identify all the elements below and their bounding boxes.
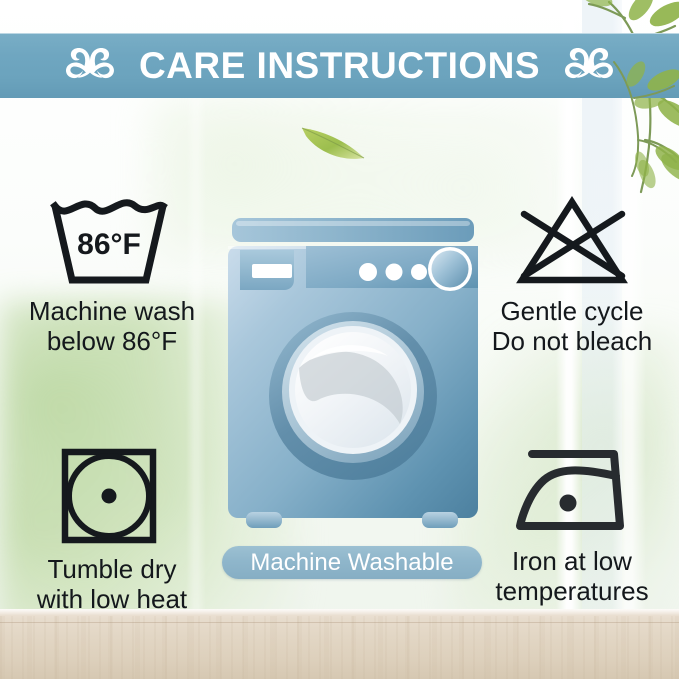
icon-wrapper: [14, 446, 204, 546]
wooden-table-seam: [0, 622, 679, 623]
iron-icon: [510, 446, 634, 538]
wooden-table-grain: [0, 616, 679, 679]
washer-foot: [422, 512, 458, 528]
header-banner: CARE INSTRUCTIONS: [0, 33, 679, 98]
care-instructions-card: CARE INSTRUCTIONS: [0, 0, 679, 679]
wash-temperature-value: 86°F: [77, 228, 141, 261]
care-symbol-caption: Tumble dry with low heat: [14, 554, 210, 614]
wash-tub-icon: 86°F: [47, 196, 171, 288]
care-symbol-caption: Iron at low temperatures: [477, 546, 667, 606]
machine-washable-badge: Machine Washable: [222, 546, 482, 579]
icon-wrapper: [477, 446, 667, 538]
badge-label: Machine Washable: [250, 551, 453, 575]
fleur-de-lis-icon: [59, 46, 121, 86]
washing-machine-illustration: [222, 210, 484, 530]
control-button: [386, 264, 403, 281]
page-title: CARE INSTRUCTIONS: [139, 47, 540, 84]
drawer-handle: [252, 264, 292, 278]
knob-dial: [432, 251, 469, 288]
care-symbol-do-not-bleach: Gentle cycle Do not bleach: [477, 196, 667, 356]
bleach-triangle-crossed-icon: [510, 196, 634, 288]
care-symbol-tumble-dry: Tumble dry with low heat: [14, 446, 210, 614]
control-button: [359, 263, 377, 281]
care-symbol-caption: Gentle cycle Do not bleach: [477, 296, 667, 356]
care-symbol-caption: Machine wash below 86°F: [14, 296, 210, 356]
control-button: [411, 264, 427, 280]
tumble-dry-square-icon: [59, 446, 159, 546]
floating-leaf-icon: [298, 120, 370, 166]
greenery-overlay-icon: [606, 58, 679, 178]
care-symbol-iron: Iron at low temperatures: [477, 446, 667, 606]
washer-foot: [246, 512, 282, 528]
care-symbol-machine-wash: 86°F Machine wash below 86°F: [14, 196, 210, 356]
icon-wrapper: 86°F: [14, 196, 204, 288]
icon-wrapper: [477, 196, 667, 288]
